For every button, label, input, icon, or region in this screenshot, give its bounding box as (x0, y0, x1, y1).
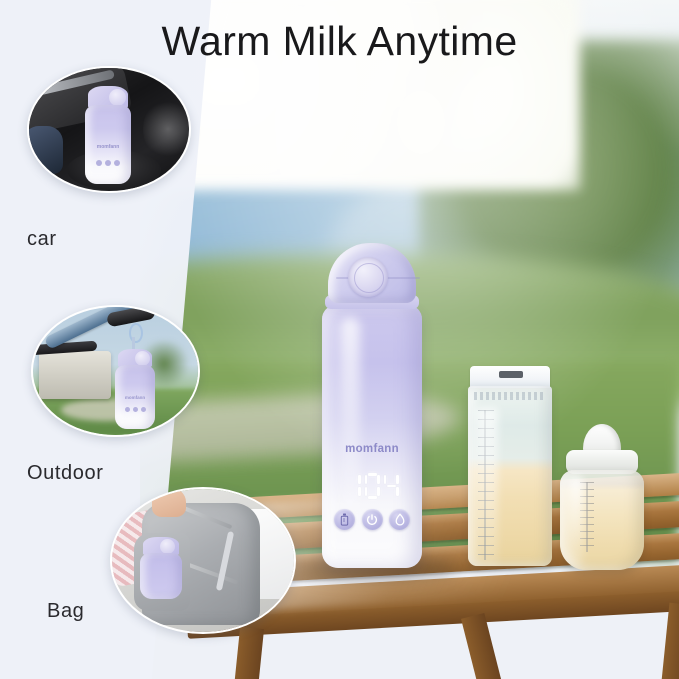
cap-lock-button[interactable] (348, 257, 388, 297)
bottle-icon (339, 513, 350, 526)
bottle-scale-line (586, 482, 588, 552)
warmer-mini-bag (140, 537, 182, 599)
hand (152, 487, 186, 517)
water-drop-icon (394, 513, 406, 526)
control-buttons (334, 509, 410, 530)
product-image: momfann 104 (0, 0, 679, 679)
zip-slider (499, 371, 523, 378)
digit-4 (384, 473, 399, 499)
warmer-mini-car: momfann (85, 86, 131, 184)
power-button[interactable] (362, 509, 383, 530)
inset-label-car: car (27, 228, 57, 251)
bag-zip-top (470, 366, 550, 388)
water-mode-button[interactable] (389, 509, 410, 530)
page-title: Warm Milk Anytime (0, 18, 679, 65)
inset-bag (110, 487, 296, 634)
inset-label-bag: Bag (47, 600, 84, 623)
inset-outdoor: momfann (31, 305, 200, 437)
warmer-highlight (340, 317, 360, 537)
inset-label-outdoor: Outdoor (27, 462, 103, 485)
table-leg (658, 603, 679, 679)
inset-car: momfann (27, 66, 191, 193)
bag-printed-label (474, 392, 546, 400)
stroller-basket (39, 351, 111, 399)
milk-storage-bag (468, 366, 552, 566)
power-icon (366, 514, 378, 526)
brand-logo: momfann (322, 443, 422, 455)
led-display: 104 (336, 469, 408, 503)
window-light (143, 98, 191, 160)
baby-bottle (556, 424, 648, 570)
bag-body (468, 386, 552, 566)
bottle-mode-button[interactable] (334, 509, 355, 530)
warmer-mini-outdoor: momfann (115, 349, 155, 429)
bottle-highlight (568, 476, 584, 564)
bag-highlight (476, 408, 498, 566)
table-leg (461, 613, 511, 679)
gear-shifter (27, 126, 63, 174)
bottle-warmer: momfann 104 (322, 243, 422, 568)
bottle-body (560, 470, 644, 570)
